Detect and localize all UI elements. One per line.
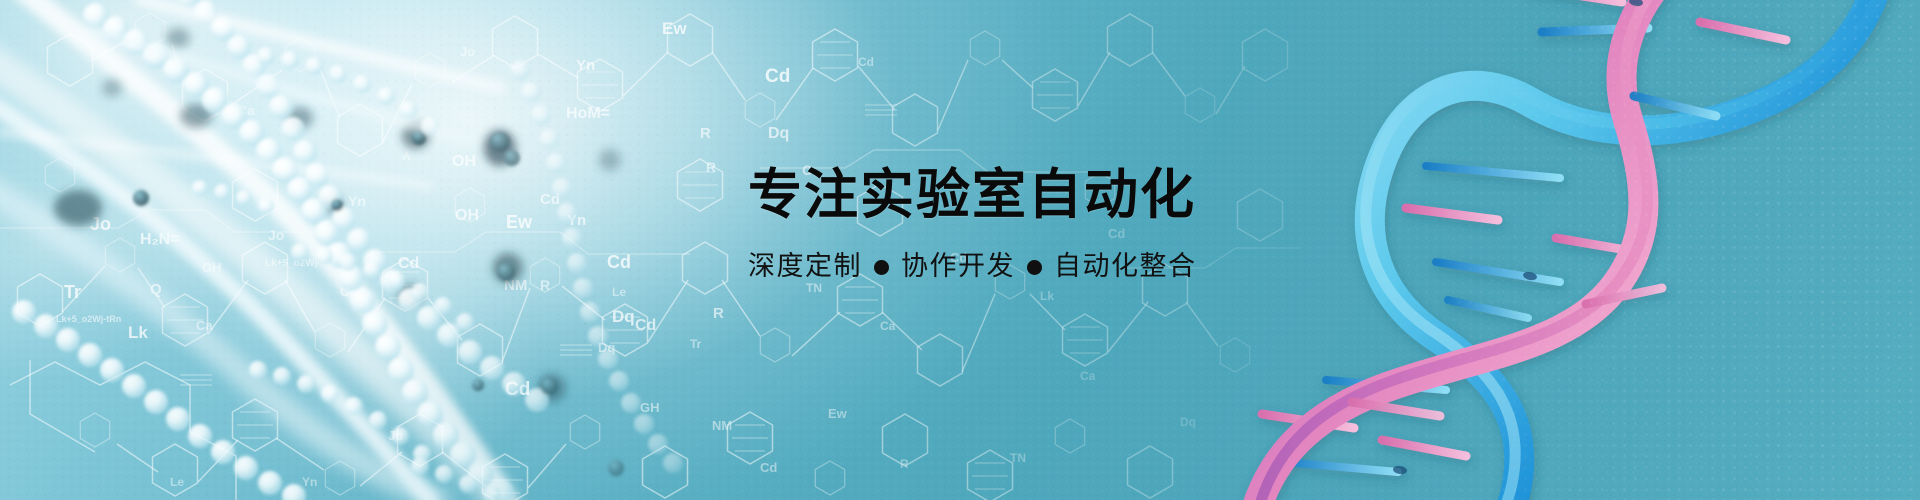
svg-text:TN: TN [806,281,822,295]
svg-text:Jo: Jo [460,44,475,59]
dna-double-helix-illustration [1230,0,1920,500]
svg-text:OH: OH [452,153,476,170]
svg-text:Dq: Dq [1180,415,1196,429]
svg-text:H₂N=: H₂N= [140,231,180,248]
subtitle-bullet-separator-1 [874,260,889,275]
svg-text:NM: NM [712,418,732,433]
svg-text:Ca: Ca [1080,369,1096,383]
subtitle-part-1: 深度定制 [748,250,862,282]
svg-text:GH: GH [640,400,660,415]
svg-text:TN: TN [1010,451,1026,465]
svg-text:OH: OH [455,207,479,224]
svg-text:Ca: Ca [340,284,357,299]
svg-text:Ew: Ew [828,406,848,421]
svg-text:Cd: Cd [760,460,777,475]
svg-text:Tr: Tr [690,337,702,351]
svg-text:NM: NM [504,277,527,294]
svg-text:Q: Q [150,281,162,298]
svg-text:Cd: Cd [607,252,631,272]
banner-subtitle: 深度定制 协作开发 自动化整合 [748,250,1197,282]
svg-text:Le: Le [170,475,184,489]
svg-text:Dq: Dq [612,307,635,326]
svg-text:R: R [713,305,724,322]
svg-text:Lk+5_o2Wj-tRn: Lk+5_o2Wj-tRn [265,258,338,269]
subtitle-part-3: 自动化整合 [1054,250,1197,282]
svg-text:Tr: Tr [64,282,81,302]
svg-text:R: R [900,457,909,471]
svg-text:HoM=: HoM= [566,105,610,122]
svg-text:Yn: Yn [302,475,317,489]
svg-text:GH: GH [202,260,222,275]
svg-text:Cd: Cd [505,379,530,400]
svg-text:Yn: Yn [567,212,586,229]
svg-text:Cd: Cd [398,255,419,272]
banner-copy: 专注实验室自动化 深度定制 协作开发 自动化整合 [748,166,1197,283]
svg-text:Cd: Cd [858,55,874,69]
svg-text:Dq: Dq [768,125,789,142]
svg-text:Jo: Jo [388,428,403,443]
svg-text:Yn: Yn [576,57,595,74]
svg-text:Le: Le [612,285,626,299]
svg-text:R: R [540,277,550,293]
svg-text:Ca: Ca [880,319,896,333]
halftone-dot-texture-right [1300,0,1920,500]
svg-text:Ca: Ca [196,318,213,333]
svg-text:Jo: Jo [90,214,111,234]
svg-text:Ew: Ew [662,19,687,38]
svg-text:A: A [402,149,411,163]
svg-text:Cd: Cd [635,317,656,334]
svg-text:Lk+5_o2Wj-tRn: Lk+5_o2Wj-tRn [56,314,121,324]
svg-text:R: R [700,125,711,142]
svg-text:Lk: Lk [128,323,148,342]
svg-text:Yn: Yn [348,193,366,209]
banner-headline: 专注实验室自动化 [748,166,1197,224]
subtitle-part-2: 协作开发 [901,250,1015,282]
lab-automation-banner: Ew Yn Cd HoM= Yn Cd Ew Cd R Dq R Dq Cd C… [0,0,1920,500]
svg-text:Ew: Ew [506,212,533,232]
svg-text:Jo: Jo [268,227,284,243]
svg-text:Cd: Cd [765,66,790,87]
svg-text:Dq: Dq [598,340,615,355]
svg-text:Ca: Ca [238,103,255,118]
subtitle-bullet-separator-2 [1027,260,1042,275]
svg-text:Cd: Cd [540,191,560,208]
svg-text:Lk: Lk [1040,289,1054,303]
svg-text:R: R [706,159,716,175]
